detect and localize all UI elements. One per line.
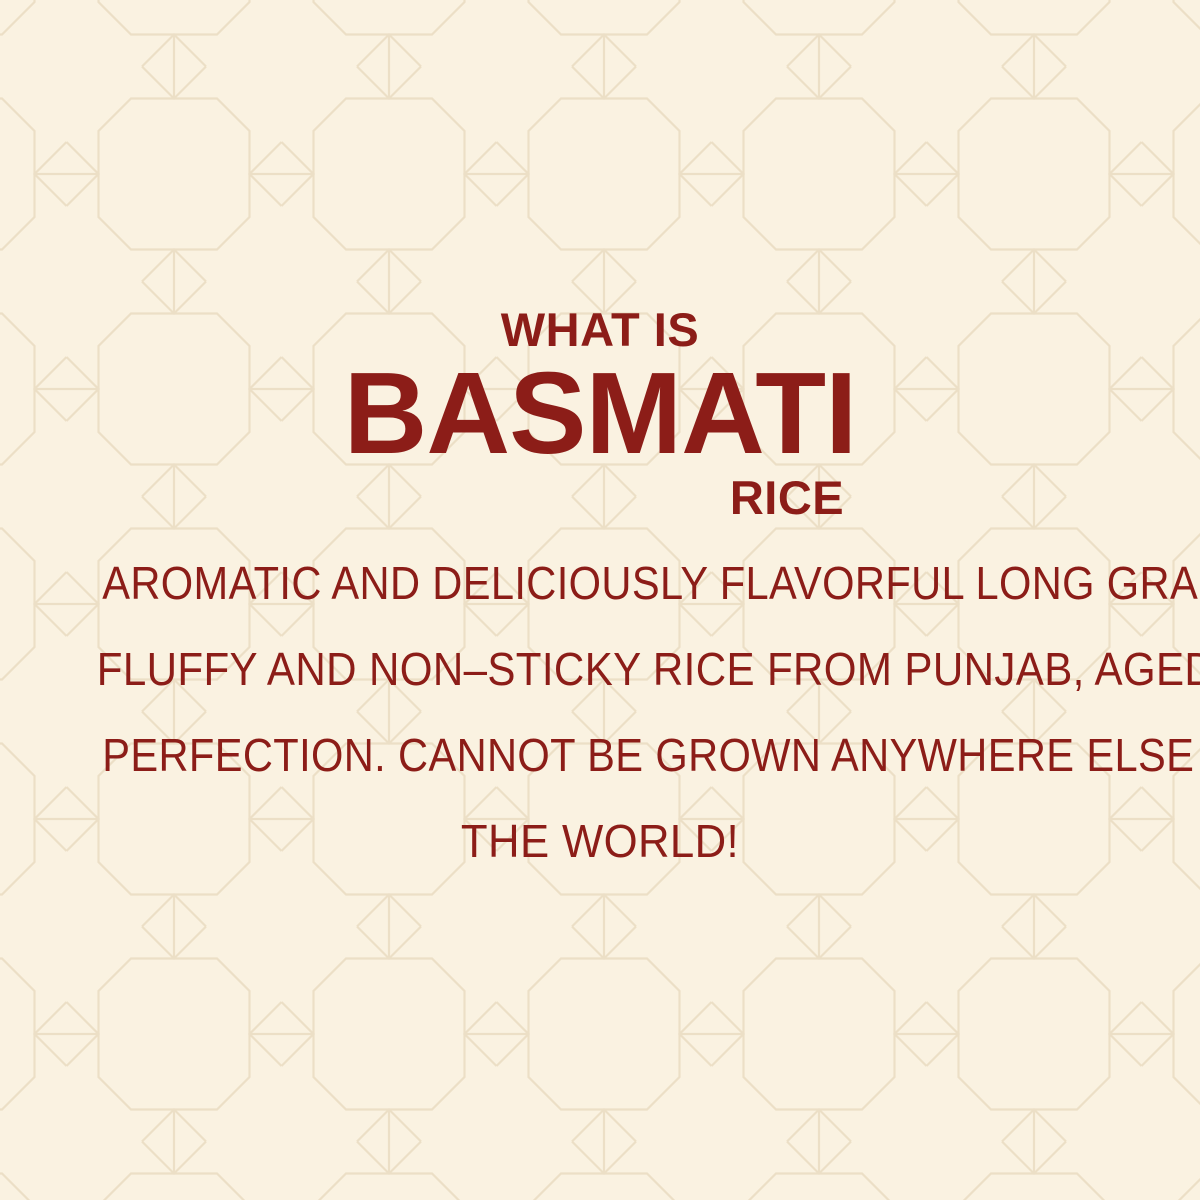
- body-line: AROMATIC AND DELICIOUSLY FLAVORFUL LONG …: [102, 540, 1098, 626]
- body-line: FLUFFY AND NON–STICKY RICE FROM PUNJAB, …: [97, 626, 1104, 712]
- poster-heading: WHAT IS BASMATI RICE: [0, 305, 1200, 522]
- heading-kicker-row: RICE: [0, 473, 1200, 522]
- poster-body-paragraph: AROMATIC AND DELICIOUSLY FLAVORFUL LONG …: [50, 540, 1150, 884]
- basmati-rice-infographic-poster: WHAT IS BASMATI RICE AROMATIC AND DELICI…: [0, 0, 1200, 1200]
- heading-kicker: RICE: [730, 473, 844, 522]
- heading-wordmark: BASMATI: [0, 354, 1200, 472]
- body-line: THE WORLD!: [78, 798, 1123, 884]
- poster-content: WHAT IS BASMATI RICE AROMATIC AND DELICI…: [0, 0, 1200, 1200]
- body-line: PERFECTION. CANNOT BE GROWN ANYWHERE ELS…: [102, 712, 1098, 798]
- heading-eyebrow: WHAT IS: [0, 305, 1200, 354]
